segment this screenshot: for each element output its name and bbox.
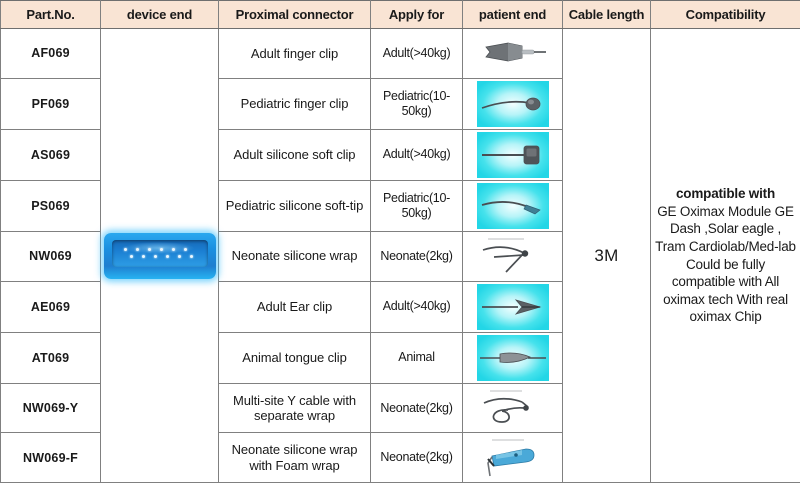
column-header-patient-end: patient end [463,1,563,29]
product-spec-table: Part.No. device end Proximal connector A… [0,0,800,483]
apply-for-cell: Adult(>40kg) [371,29,463,79]
proximal-connector-cell: Pediatric finger clip [219,78,371,129]
patient-end-cell [463,332,563,383]
compatibility-body: GE Oximax Module GE Dash ,Solar eagle , … [654,203,797,326]
apply-for-cell: Neonate(2kg) [371,231,463,281]
device-end-cell [101,29,219,483]
silicone-soft-clip-sensor-icon [477,132,549,178]
patient-end-thumbnail [466,234,559,279]
patient-end-cell [463,129,563,180]
proximal-connector-cell: Neonate silicone wrap with Foam wrap [219,433,371,483]
table-row: AF069Adult finger clipAdult(>40kg)3Mcomp… [1,29,800,79]
patient-end-thumbnail [466,183,559,229]
proximal-connector-cell: Neonate silicone wrap [219,231,371,281]
blue-multipin-connector-icon [104,233,215,279]
patient-end-thumbnail [466,386,559,431]
cable-length-cell: 3M [563,29,651,483]
table-body: AF069Adult finger clipAdult(>40kg)3Mcomp… [1,29,800,483]
apply-for-cell: Neonate(2kg) [371,383,463,433]
finger-clip-sensor-icon [478,31,548,75]
part-number-cell: PF069 [1,78,101,129]
part-number-cell: NW069-F [1,433,101,483]
patient-end-cell [463,383,563,433]
y-cable-wrap-sensor-icon [478,386,548,430]
patient-end-cell [463,78,563,129]
part-number-cell: AS069 [1,129,101,180]
column-header-part-no: Part.No. [1,1,101,29]
proximal-connector-cell: Multi-site Y cable with separate wrap [219,383,371,433]
patient-end-thumbnail [466,31,559,76]
column-header-device-end: device end [101,1,219,29]
column-header-proximal-connector: Proximal connector [219,1,371,29]
apply-for-cell: Pediatric(10-50kg) [371,180,463,231]
part-number-cell: AT069 [1,332,101,383]
proximal-connector-cell: Pediatric silicone soft-tip [219,180,371,231]
proximal-connector-cell: Animal tongue clip [219,332,371,383]
patient-end-thumbnail [466,81,559,127]
part-number-cell: NW069 [1,231,101,281]
apply-for-cell: Animal [371,332,463,383]
apply-for-cell: Adult(>40kg) [371,129,463,180]
patient-end-cell [463,180,563,231]
table-header-row: Part.No. device end Proximal connector A… [1,1,800,29]
patient-end-cell [463,231,563,281]
ear-clip-sensor-icon [477,284,549,330]
foam-wrap-sensor-icon [478,436,548,480]
proximal-connector-cell: Adult finger clip [219,29,371,79]
part-number-cell: PS069 [1,180,101,231]
silicone-soft-tip-sensor-icon [477,183,549,229]
apply-for-cell: Adult(>40kg) [371,281,463,332]
patient-end-thumbnail [466,435,559,480]
patient-end-cell [463,281,563,332]
pediatric-finger-clip-sensor-icon [477,81,549,127]
compatibility-cell: compatible withGE Oximax Module GE Dash … [651,29,800,483]
column-header-compatibility: Compatibility [651,1,800,29]
apply-for-cell: Neonate(2kg) [371,433,463,483]
part-number-cell: NW069-Y [1,383,101,433]
column-header-cable-length: Cable length [563,1,651,29]
part-number-cell: AE069 [1,281,101,332]
neonate-silicone-wrap-sensor-icon [478,234,548,278]
patient-end-thumbnail [466,335,559,381]
animal-tongue-clip-sensor-icon [477,335,549,381]
patient-end-cell [463,433,563,483]
column-header-apply-for: Apply for [371,1,463,29]
compatibility-heading: compatible with [654,185,797,203]
patient-end-thumbnail [466,132,559,178]
proximal-connector-cell: Adult Ear clip [219,281,371,332]
patient-end-thumbnail [466,284,559,330]
proximal-connector-cell: Adult silicone soft clip [219,129,371,180]
apply-for-cell: Pediatric(10-50kg) [371,78,463,129]
patient-end-cell [463,29,563,79]
part-number-cell: AF069 [1,29,101,79]
